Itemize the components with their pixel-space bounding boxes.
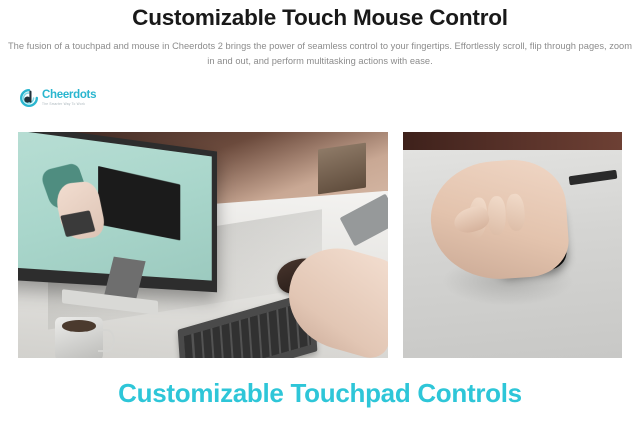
brand-tagline: The Smarter Way To Work bbox=[42, 103, 96, 106]
brand-name: Cheerdots bbox=[42, 90, 96, 102]
desk-workspace-photo bbox=[18, 132, 388, 358]
brand-text-block: Cheerdots The Smarter Way To Work bbox=[42, 90, 96, 106]
page-title: Customizable Touch Mouse Control bbox=[0, 0, 640, 31]
hand-on-mouse-closeup-photo bbox=[403, 132, 622, 358]
brand-logo: Cheerdots The Smarter Way To Work bbox=[19, 86, 96, 110]
footer-headline: Customizable Touchpad Controls bbox=[0, 379, 640, 408]
page-subtitle: The fusion of a touchpad and mouse in Ch… bbox=[0, 31, 640, 69]
closeup-finger-ring bbox=[506, 194, 526, 232]
photo-desk-box bbox=[318, 142, 366, 194]
cheerdots-d-logo-icon bbox=[19, 88, 39, 108]
photo-mug-coffee bbox=[62, 320, 97, 332]
photo-gallery bbox=[18, 132, 622, 358]
photo-screen-laptop bbox=[98, 165, 180, 239]
closeup-finger-middle bbox=[488, 197, 506, 236]
photo-coffee-mug bbox=[55, 317, 103, 358]
